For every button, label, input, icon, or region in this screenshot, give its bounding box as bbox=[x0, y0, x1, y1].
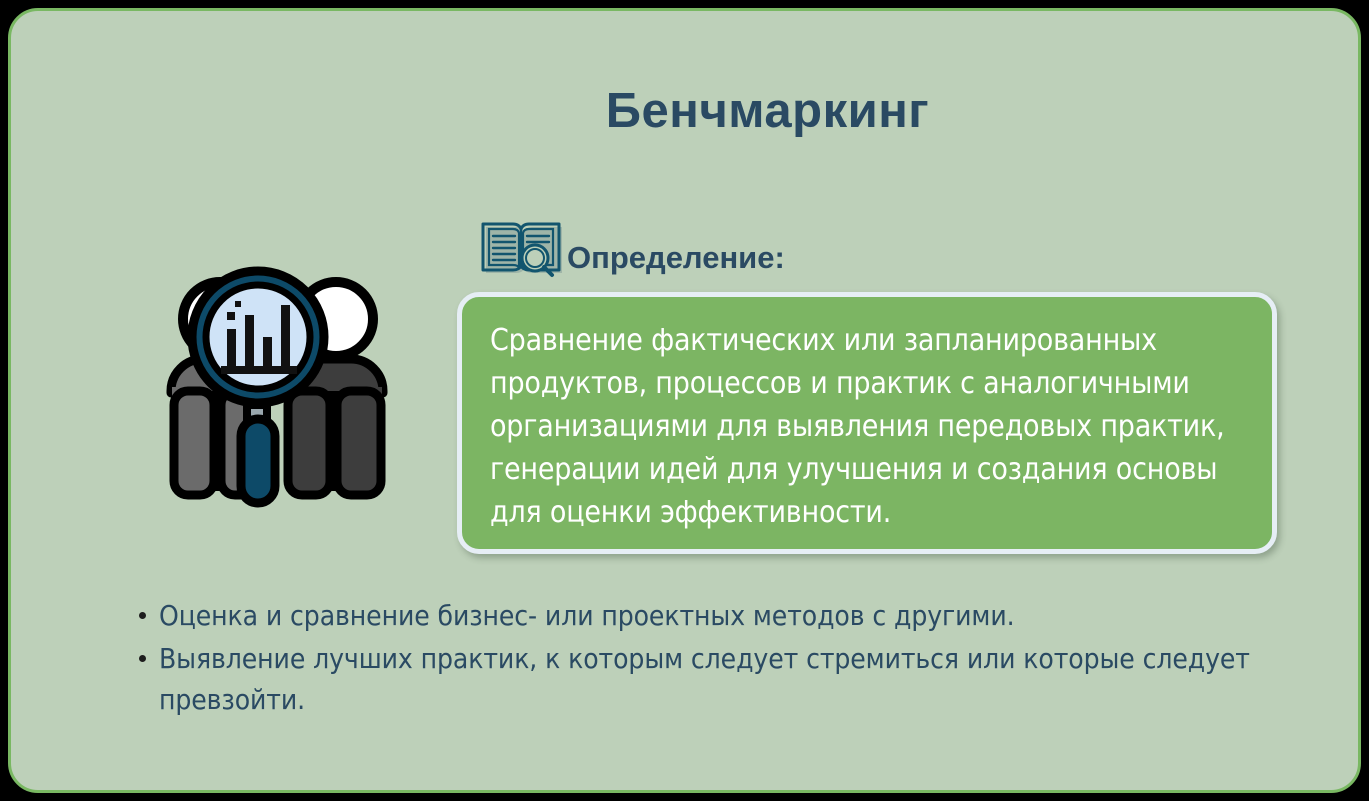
people-magnifier-chart-icon bbox=[133, 223, 423, 513]
book-magnifier-icon bbox=[479, 214, 563, 280]
slide-frame: Бенчмаркинг bbox=[8, 8, 1361, 793]
list-item: Выявление лучших практик, к которым след… bbox=[139, 638, 1319, 720]
definition-heading: Определение: bbox=[479, 214, 785, 280]
page-title: Бенчмаркинг bbox=[11, 83, 1361, 139]
list-item-text: Выявление лучших практик, к которым след… bbox=[159, 638, 1319, 720]
definition-body-text: Сравнение фактических или запланированны… bbox=[490, 319, 1246, 534]
definition-label: Определение: bbox=[567, 240, 785, 280]
definition-box: Сравнение фактических или запланированны… bbox=[457, 292, 1277, 554]
bullet-dot-icon bbox=[139, 655, 146, 662]
list-item-text: Оценка и сравнение бизнес- или проектных… bbox=[159, 595, 1319, 636]
bullet-list: Оценка и сравнение бизнес- или проектных… bbox=[139, 595, 1319, 722]
bullet-dot-icon bbox=[139, 612, 146, 619]
list-item: Оценка и сравнение бизнес- или проектных… bbox=[139, 595, 1319, 636]
